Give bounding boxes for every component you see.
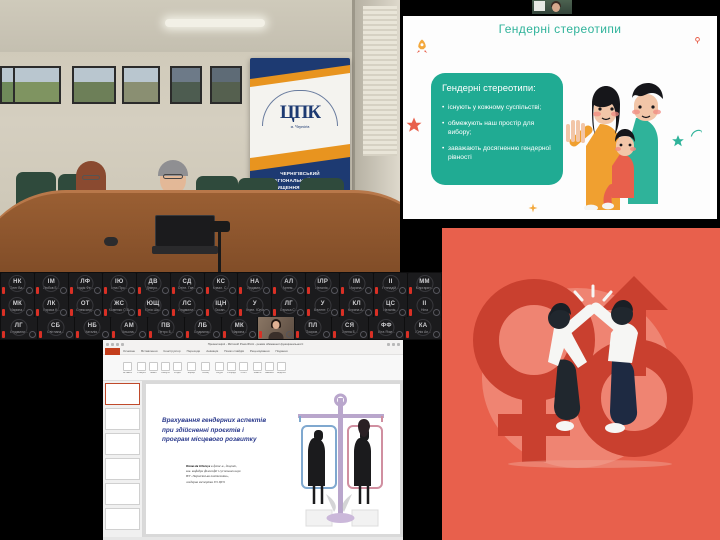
camera-off-icon[interactable] [433,309,440,316]
avatar-ring [43,275,60,292]
mic-muted-icon[interactable] [70,309,73,316]
wall-picture [170,66,202,104]
mic-muted-icon[interactable] [206,309,209,316]
mic-muted-icon[interactable] [375,309,378,316]
camera-off-icon[interactable] [94,287,101,294]
author-line: к.філос.н., доцент, [211,464,237,468]
avatar-ring [145,275,162,292]
participant-tile[interactable]: УВалент. Г... [306,295,339,317]
participant-tile[interactable]: ІЮІнна Про... [103,273,136,295]
mic-muted-icon[interactable] [259,331,262,338]
ribbon-label: Фігури [215,372,224,374]
tab-perehody[interactable]: Переходи [187,349,201,353]
ribbon-label: Абзац [201,372,210,374]
mic-muted-icon[interactable] [341,287,344,294]
participant-tile[interactable]: ЛБЛюдмила... [185,317,221,339]
ribbon-label: Замінити [265,372,274,374]
ribbon-icon [277,362,286,371]
participant-tile[interactable]: ЛГЛариса С... [272,295,305,317]
ribbon-label: Макет [149,372,158,374]
mic-muted-icon[interactable] [409,287,412,294]
participant-tile[interactable]: ЖСХоменко С.В. [103,295,136,317]
slide-title: Гендерні стереотипи [403,22,717,36]
ribbon-icon [161,362,170,371]
ribbon-group: Шрифт [187,362,196,374]
mic-muted-icon[interactable] [70,287,73,294]
banner-logo: ЦПК [280,102,320,124]
camera-off-icon[interactable] [162,309,169,316]
camera-off-icon[interactable] [102,331,109,338]
avatar-ring [9,297,26,314]
participant-tile[interactable]: ІММарина... [340,273,373,295]
participant-tile[interactable]: НКОлег Ва... [1,273,34,295]
powerpoint-window-title: Презентація1 - Microsoft PowerPoint - ре… [124,342,387,346]
ribbon-label: Скинути [161,372,170,374]
avatar-ring [231,319,248,336]
self-view-thumbnail[interactable] [532,0,572,14]
filmstrip-row: НКОлег Ва...ІМЛюбов Б...ЛФнадія Фе...ІЮІ… [0,273,442,295]
ribbon-icon [173,362,182,371]
powerpoint-ribbon[interactable]: ВставитиСтворитиМакетСкинутиРозділШрифтА… [103,355,403,381]
mic-muted-icon[interactable] [370,331,373,338]
file-tab[interactable] [105,348,120,355]
ribbon-group: ЗнайтиЗамінитиВиділити [253,362,286,374]
avatar-ring [246,297,263,314]
mic-muted-icon[interactable] [2,331,5,338]
ribbon-label: Розділ [173,372,182,374]
avatar-ring [145,297,162,314]
ribbon-icon [123,362,132,371]
ribbon-icon [265,362,274,371]
balance-scales-graphic [286,390,396,530]
avatar-ring [194,319,211,336]
camera-off-icon[interactable] [128,309,135,316]
author-line: гендерна експертка ГО ЦГО [186,480,225,484]
camera-off-icon[interactable] [297,309,304,316]
mic-muted-icon[interactable] [273,309,276,316]
participant-tile[interactable]: ІЛРНаталія... [306,273,339,295]
powerpoint-titlebar[interactable]: Презентація1 - Microsoft PowerPoint - ре… [103,340,403,348]
mic-muted-icon[interactable] [138,287,141,294]
mic-muted-icon[interactable] [409,309,412,316]
participant-tile[interactable]: ІМЛюбов Б... [35,273,68,295]
avatar-ring [382,297,399,314]
wall-picture [13,66,61,104]
avatar-ring [304,319,321,336]
avatar-ring [179,275,196,292]
avatar-ring [121,319,138,336]
participant-tile[interactable]: КЛКарина А... [340,295,373,317]
mic-muted-icon[interactable] [307,287,310,294]
avatar-ring [416,275,433,292]
slide-bullet: заважають досягненню гендерної рівності [442,144,553,162]
avatar-ring [111,275,128,292]
mic-muted-icon[interactable] [333,331,336,338]
ribbon-button[interactable]: Упорядкувати [227,362,236,374]
deck-slide-title: Врахування гендерних аспектів при здійсн… [162,416,272,445]
participant-tile[interactable]: АМАльона... [111,317,147,339]
tube-light [165,19,265,27]
powerpoint-window[interactable]: Презентація1 - Microsoft PowerPoint - ре… [103,340,403,540]
participant-tile[interactable]: СЯОлена Б... [332,317,368,339]
banner-city: м. Чернігів [291,124,310,129]
mic-muted-icon[interactable] [104,287,107,294]
camera-off-icon[interactable] [297,287,304,294]
tab-podannya[interactable]: Подання [275,349,287,353]
ribbon-tabbar[interactable]: Основне Вставлення Конструктор Переходи … [103,348,403,355]
ribbon-group: ФігуриУпорядкуватиСтилі [215,362,248,374]
camera-off-icon[interactable] [229,287,236,294]
ribbon-label: Стилі [239,372,248,374]
mic-muted-icon[interactable] [2,287,5,294]
ribbon-group: Вставити [123,362,132,374]
tab-vstavlennya[interactable]: Вставлення [141,349,157,353]
slide-canvas[interactable]: Врахування гендерних аспектів при здійсн… [143,381,403,537]
participant-tile[interactable]: ЛФнадія Фе... [69,273,102,295]
participant-tile[interactable]: ІІГеннадій... [374,273,407,295]
slide-bullet-list: існують у кожному суспільстві; обмежують… [442,103,553,162]
participant-tile[interactable]: ЛСЛюдмила... [171,295,204,317]
avatar-ring [47,319,64,336]
window-frame [352,0,400,208]
ribbon-label: Створити [137,372,146,374]
tab-pokaz-slaydiv[interactable]: Показ слайдів [224,349,244,353]
participant-tile[interactable]: ФФВіта Ячм... [369,317,405,339]
mic-muted-icon[interactable] [36,287,39,294]
mic-muted-icon[interactable] [172,309,175,316]
avatar-ring [280,275,297,292]
ribbon-icon [187,362,196,371]
shared-slide: Гендерні стереотипи [403,16,717,219]
camera-off-icon[interactable] [176,331,183,338]
camera-off-icon[interactable] [66,331,73,338]
ribbon-button[interactable]: Знайти [253,362,262,374]
avatar-ring [111,297,128,314]
camera-off-icon[interactable] [196,309,203,316]
tab-osnovne[interactable]: Основне [123,349,135,353]
ribbon-icon [215,362,224,371]
slide-content-box: Гендерні стереотипи: існують у кожному с… [431,73,563,185]
avatar-ring [415,319,432,336]
ribbon-button[interactable]: Стилі [239,362,248,374]
avatar-ring [179,297,196,314]
participant-tile[interactable]: МКМарина... [1,295,34,317]
editing-slide[interactable]: Врахування гендерних аспектів при здійсн… [146,384,400,534]
avatar-ring [43,297,60,314]
mic-muted-icon[interactable] [239,287,242,294]
window-blinds [363,6,397,156]
ribbon-button[interactable]: Створити [137,362,146,374]
mic-muted-icon[interactable] [76,331,79,338]
camera-off-icon[interactable] [29,331,36,338]
laptop-screen [155,215,215,247]
camera-off-icon[interactable] [94,309,101,316]
mic-muted-icon[interactable] [36,309,39,316]
window-controls[interactable] [387,343,400,346]
camera-off-icon[interactable] [196,287,203,294]
mic-muted-icon[interactable] [138,309,141,316]
mic-muted-icon[interactable] [307,309,310,316]
participant-tile[interactable]: КАЮлія Ан... [405,317,441,339]
participant-tile[interactable]: ПЛПокров... [295,317,331,339]
ribbon-label: Упорядкувати [227,372,236,374]
tab-animaciya[interactable]: Анімація [206,349,218,353]
avatar-ring [280,297,297,314]
family-illustration [566,68,691,210]
participant-filmstrip[interactable]: НКОлег Ва...ІМЛюбов Б...ЛФнадія Фе...ІЮІ… [0,272,442,340]
avatar-ring [382,275,399,292]
camera-off-icon[interactable] [365,309,372,316]
ribbon-button[interactable]: Розділ [173,362,182,374]
camera-off-icon[interactable] [433,287,440,294]
participant-tile[interactable]: УХмел. Юлія [238,295,271,317]
sparkle-icon [527,202,539,214]
camera-off-icon[interactable] [263,309,270,316]
camera-off-icon[interactable] [60,309,67,316]
avatar-ring [77,297,94,314]
camera-off-icon[interactable] [286,331,293,338]
slide-thumbnail[interactable] [105,483,140,505]
camera-off-icon[interactable] [331,287,338,294]
participant-tile[interactable]: ІІНіна [408,295,441,317]
slide-thumbnail[interactable] [105,508,140,530]
screen-root: ЦПК м. Чернігів ЧЕРНІГІВСЬКИЙ РЕГІОНАЛЬН… [0,0,720,540]
participant-tile[interactable]: ІЦНОксан... [205,295,238,317]
arrow-icon [689,126,703,140]
slide-box-heading: Гендерні стереотипи: [442,83,553,94]
ribbon-button[interactable]: Скинути [161,362,170,374]
avatar-ring [9,275,26,292]
mic-muted-icon[interactable] [2,309,5,316]
ribbon-icon [227,362,236,371]
camera-off-icon[interactable] [396,331,403,338]
mic-muted-icon[interactable] [112,331,115,338]
camera-off-icon[interactable] [399,287,406,294]
mic-muted-icon[interactable] [273,287,276,294]
ribbon-button[interactable]: Замінити [265,362,274,374]
avatar-ring [416,297,433,314]
mic-muted-icon[interactable] [172,287,175,294]
participant-tile[interactable]: НАЛюдмил... [238,273,271,295]
slide-bullet: існують у кожному суспільстві; [442,103,553,112]
filmstrip-row: МКМарина...ЛКЛариса К...ОТОлександ...ЖСХ… [0,295,442,317]
camera-off-icon[interactable] [229,309,236,316]
tripod-camera-head [210,221,230,232]
mic-muted-icon[interactable] [149,331,152,338]
ribbon-button[interactable]: Вставити [123,362,132,374]
rocket-icon [413,38,431,56]
participant-tile[interactable]: МКМарина... [222,317,258,339]
participant-tile[interactable]: СБСвітлана... [38,317,74,339]
star-icon [405,116,423,134]
mic-muted-icon[interactable] [406,331,409,338]
gender-equality-illustration-panel [442,228,720,540]
participant-tile[interactable]: Ольга Шевч... [258,317,294,339]
ribbon-icon [253,362,262,371]
slide-thumbnail[interactable] [105,458,140,480]
powerpoint-workspace: Врахування гендерних аспектів при здійсн… [103,381,403,537]
mic-muted-icon[interactable] [239,309,242,316]
camera-off-icon[interactable] [365,287,372,294]
camera-off-icon[interactable] [399,309,406,316]
avatar-ring [157,319,174,336]
slide-thumbnail-panel[interactable] [103,381,143,537]
gender-symbols-graphic [462,268,700,488]
avatar-ring [10,319,27,336]
participant-tile[interactable]: СДСвітл. Гав... [171,273,204,295]
camera-off-icon[interactable] [128,287,135,294]
ribbon-icon [149,362,158,371]
participant-tile[interactable]: ПВПетро Б... [148,317,184,339]
camera-off-icon[interactable] [323,331,330,338]
avatar-ring [212,297,229,314]
participant-tile[interactable]: ЦСНаталія... [374,295,407,317]
conference-room-camera-feed[interactable]: ЦПК м. Чернігів ЧЕРНІГІВСЬКИЙ РЕГІОНАЛЬН… [0,0,400,272]
author-name: Наталія Шевчук [186,464,210,468]
tab-konstruktor[interactable]: Конструктор [163,349,180,353]
avatar-ring [314,275,331,292]
ribbon-label: Шрифт [187,372,196,374]
ribbon-group: СтворитиМакетСкинутиРозділ [137,362,182,374]
avatar-ring [348,275,365,292]
laptop-base [152,246,218,254]
camera-off-icon[interactable] [331,309,338,316]
wall-picture [210,66,242,104]
participant-tile[interactable]: КСКовал. С... [205,273,238,295]
mic-muted-icon[interactable] [223,331,226,338]
participant-tile[interactable]: АЛАртем... [272,273,305,295]
participant-tile[interactable]: ДВДніпро... [137,273,170,295]
participant-tile[interactable]: ЛГЛюдмила... [1,317,37,339]
ribbon-icon [137,362,146,371]
camera-off-icon[interactable] [249,331,256,338]
avatar-ring [84,319,101,336]
mic-muted-icon[interactable] [206,287,209,294]
ribbon-button[interactable]: Абзац [201,362,210,374]
dot-icon [693,36,702,45]
wall-picture [122,66,160,104]
deck-slide-author: Наталія Шевчук к.філос.н., доцент, зав. … [186,464,286,485]
ribbon-icon [201,362,210,371]
participant-tile[interactable]: ЛКЛариса К... [35,295,68,317]
author-line: НУ «Чернігівська політехніка», [186,474,229,478]
author-line: зав. кафедри філософії і суспільних наук [186,469,241,473]
mic-muted-icon[interactable] [375,287,378,294]
camera-off-icon[interactable] [433,331,440,338]
camera-off-icon[interactable] [60,287,67,294]
participant-tile[interactable]: ОТОлександ... [69,295,102,317]
camera-off-icon[interactable] [213,331,220,338]
wall-picture [72,66,116,104]
filmstrip-row: ЛГЛюдмила...СБСвітлана...НБНаталія...АМА… [0,317,442,339]
avatar-ring [314,297,331,314]
camera-off-icon[interactable] [360,331,367,338]
quick-access-toolbar[interactable] [106,343,124,346]
slide-thumbnail[interactable] [105,408,140,430]
camera-off-icon[interactable] [26,309,33,316]
ribbon-button[interactable]: Виділити [277,362,286,374]
camera-off-icon[interactable] [26,287,33,294]
participant-head [273,321,280,329]
avatar-ring [212,275,229,292]
avatar-ring [341,319,358,336]
shared-slide-pane[interactable]: Гендерні стереотипи [400,0,720,228]
participant-tile[interactable]: МММаргарит... [408,273,441,295]
participant-body [269,332,284,339]
camera-off-icon[interactable] [162,287,169,294]
camera-off-icon[interactable] [139,331,146,338]
participant-tile[interactable]: НБНаталія... [75,317,111,339]
avatar-ring [77,275,94,292]
mic-muted-icon[interactable] [39,331,42,338]
computer-mouse [104,237,118,246]
avatar-ring [378,319,395,336]
ribbon-group: Абзац [201,362,210,374]
ribbon-label: Знайти [253,372,262,374]
mic-muted-icon[interactable] [296,331,299,338]
ribbon-icon [239,362,248,371]
ribbon-button[interactable]: Макет [149,362,158,374]
mic-muted-icon[interactable] [341,309,344,316]
tab-recenzuvannya[interactable]: Рецензування [250,349,270,353]
participant-tile[interactable]: ЮЩЮлія Ша... [137,295,170,317]
ribbon-label: Виділити [277,372,286,374]
ribbon-button[interactable]: Фігури [215,362,224,374]
mic-muted-icon[interactable] [104,309,107,316]
ribbon-label: Вставити [123,372,132,374]
slide-thumbnail[interactable] [105,383,140,405]
avatar-ring [246,275,263,292]
slide-bullet: обмежують наш простір для вибору; [442,119,553,137]
camera-off-icon[interactable] [263,287,270,294]
mic-muted-icon[interactable] [186,331,189,338]
ribbon-button[interactable]: Шрифт [187,362,196,374]
avatar-ring [348,297,365,314]
slide-thumbnail[interactable] [105,433,140,455]
